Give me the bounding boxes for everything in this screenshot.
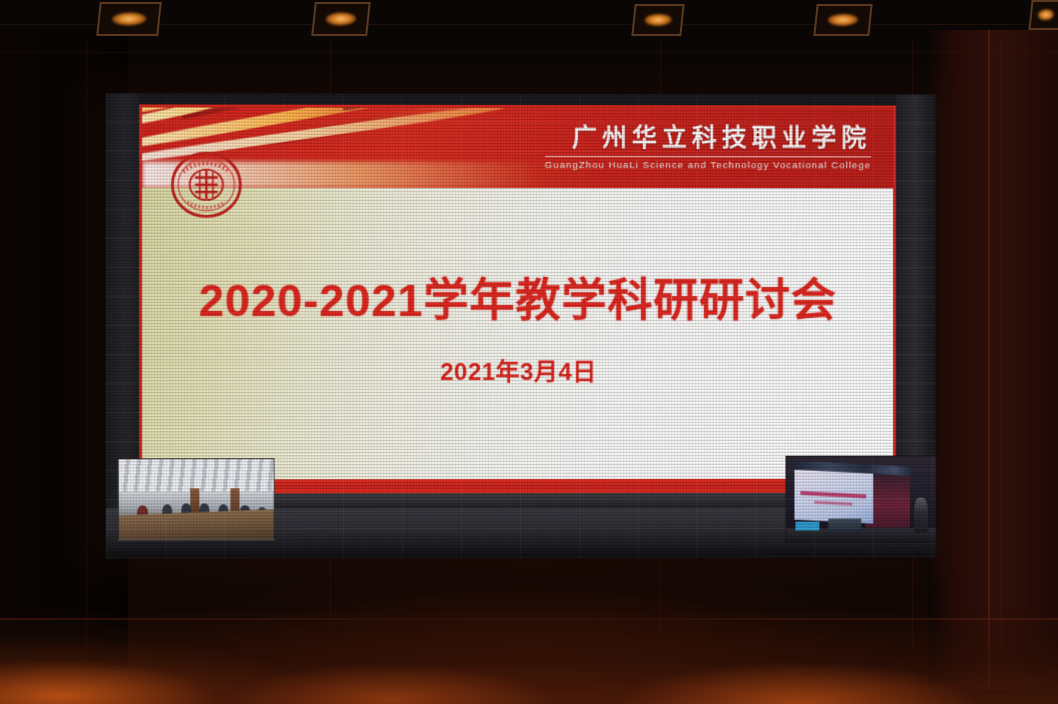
ceiling-light-icon [1028, 0, 1058, 30]
ceiling-light-icon [311, 2, 371, 36]
right-wall [928, 30, 1058, 690]
college-name-cn: 广州华立科技职业学院 [545, 126, 871, 151]
college-name-block: 广州华立科技职业学院 GuangZhou HuaLi Science and T… [545, 126, 871, 171]
led-display-wall: 广州华立科技职业学院 GuangZhou HuaLi Science and T… [106, 93, 936, 558]
slide-subtitle-date: 2021年3月4日 [142, 351, 893, 386]
photo-conference-room [118, 458, 275, 540]
ceiling-light-icon [813, 4, 872, 36]
photo-auditorium-stage [786, 456, 936, 544]
school-seal-icon [170, 150, 242, 220]
stage-floor [0, 608, 1058, 704]
slide-header-banner: 广州华立科技职业学院 GuangZhou HuaLi Science and T… [142, 107, 893, 188]
page-title: 2020-2021学年教学科研研讨会 [142, 276, 893, 326]
ceiling-light-icon [96, 2, 162, 36]
presentation-slide: 广州华立科技职业学院 GuangZhou HuaLi Science and T… [139, 104, 896, 518]
slide-title-block: 2020-2021学年教学科研研讨会 2021年3月4日 [142, 276, 893, 387]
auditorium-scene: 广州华立科技职业学院 GuangZhou HuaLi Science and T… [0, 0, 1058, 704]
ceiling-rail [0, 52, 1058, 53]
ceiling-light-icon [631, 4, 684, 36]
college-name-en: GuangZhou HuaLi Science and Technology V… [545, 156, 871, 171]
